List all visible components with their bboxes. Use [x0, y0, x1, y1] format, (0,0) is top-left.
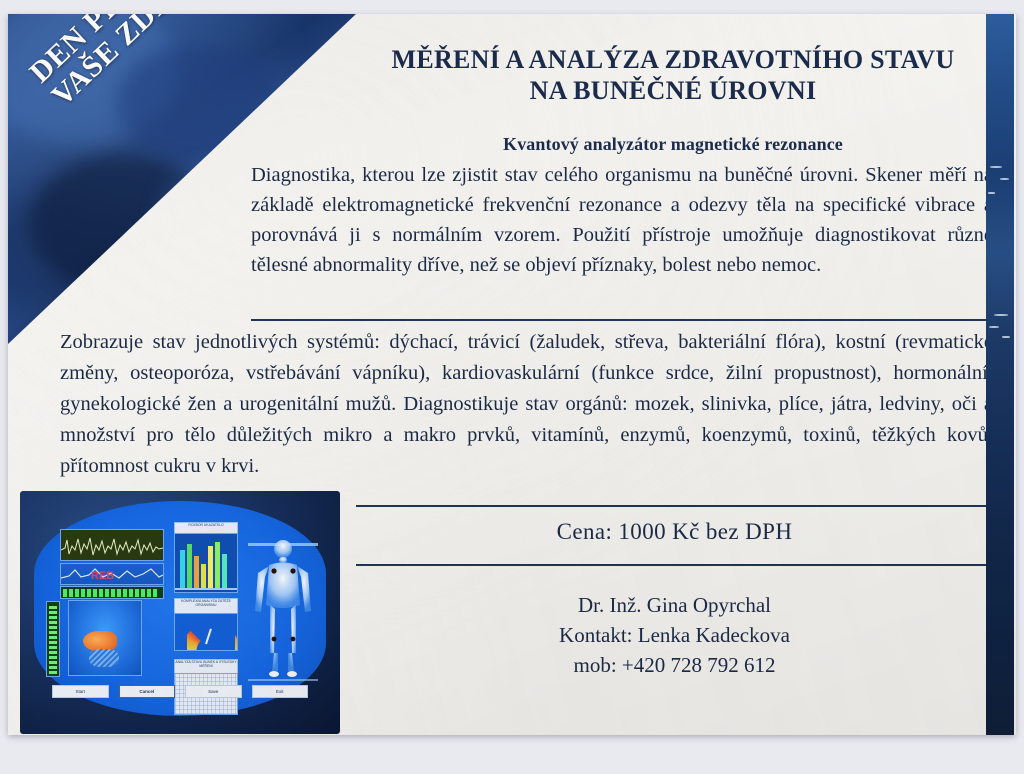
- systems-paragraph: Zobrazuje stav jednotlivých systémů: dýc…: [60, 327, 993, 482]
- svg-text:REB: REB: [91, 570, 114, 582]
- vertical-level-meter: [46, 601, 60, 677]
- intestine-highlight: [89, 649, 119, 667]
- contact-person: Kontakt: Lenka Kadeckova: [356, 620, 993, 650]
- device-button-exit[interactable]: Exit: [252, 685, 309, 698]
- green-level-meter: [60, 586, 164, 599]
- device-button-start[interactable]: Start: [52, 685, 109, 698]
- right-photo-strip: [986, 14, 1014, 735]
- ecg-trace-icon: [61, 530, 163, 560]
- device-button-row: Start Cancel Save Exit: [52, 685, 308, 698]
- device-button-cancel[interactable]: Cancel: [119, 685, 176, 698]
- price-label: Cena: 1000 Kč bez DPH: [356, 519, 993, 545]
- ecg-waveform-panel: [60, 529, 164, 561]
- title-line-2: NA BUNĚČNÉ ÚROVNI: [348, 75, 998, 106]
- human-body-figure: [248, 529, 318, 689]
- bar-chart-panel: [174, 533, 238, 593]
- divider-top: [251, 319, 993, 321]
- contact-phone[interactable]: mob: +420 728 792 612: [356, 650, 993, 680]
- page-title: MĚŘENÍ A ANALÝZA ZDRAVOTNÍHO STAVU NA BU…: [348, 44, 998, 106]
- title-line-1: MĚŘENÍ A ANALÝZA ZDRAVOTNÍHO STAVU: [348, 44, 998, 75]
- intro-paragraph: Diagnostika, kterou lze zjistit stav cel…: [251, 160, 993, 280]
- device-photo: REB ROZBOR UKAZATELŮ: [20, 491, 340, 734]
- contact-doctor: Dr. Inž. Gina Opyrchal: [356, 590, 993, 620]
- bar-chart-icon: [175, 534, 237, 592]
- divider-below-price: [356, 564, 993, 566]
- gauge-panel: [174, 613, 238, 651]
- pulse-trace-icon: REB: [61, 564, 163, 584]
- gauge-arc-icon: [182, 622, 238, 651]
- page-subtitle: Kvantový analyzátor magnetické rezonance: [348, 134, 998, 155]
- torso-anatomy-view: [68, 600, 142, 676]
- poster-sheet: DEN PRO VAŠE ZDRAVÍ MĚŘENÍ A ANALÝZA ZDR…: [8, 14, 1016, 735]
- device-screen: REB ROZBOR UKAZATELŮ: [34, 501, 326, 716]
- divider-above-price: [356, 505, 993, 507]
- device-button-save[interactable]: Save: [185, 685, 242, 698]
- contact-block: Dr. Inž. Gina Opyrchal Kontakt: Lenka Ka…: [356, 590, 993, 680]
- secondary-waveform-panel: REB: [60, 563, 164, 585]
